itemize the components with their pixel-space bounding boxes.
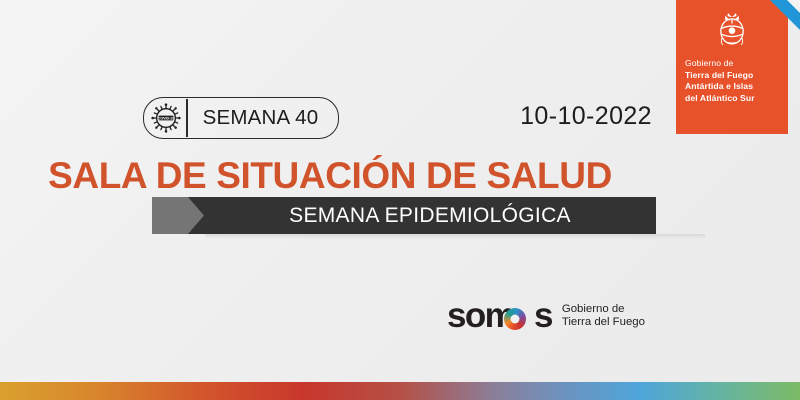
svg-text:COVID-19: COVID-19: [158, 116, 174, 120]
somos-logo: somos Gobierno de Tierra del Fuego: [447, 297, 645, 335]
gov-line-3: Antártida e Islas: [685, 81, 783, 93]
week-label: SEMANA 40: [188, 106, 339, 130]
covid19-virus-icon: COVID-19: [146, 99, 186, 137]
gov-line-1: Gobierno de: [685, 58, 783, 70]
somos-colored-ring-icon: [504, 308, 526, 330]
blue-corner-fold-icon: [770, 0, 800, 30]
somos-tagline: Gobierno de Tierra del Fuego: [562, 303, 645, 330]
somos-tagline-line-1: Gobierno de: [562, 303, 645, 316]
subtitle-bar: SEMANA EPIDEMIOLÓGICA: [152, 197, 656, 234]
somos-tagline-line-2: Tierra del Fuego: [562, 316, 645, 329]
subtitle-label: SEMANA EPIDEMIOLÓGICA: [204, 197, 656, 234]
coat-of-arms-icon: [711, 9, 753, 51]
bottom-gradient-stripe: [0, 382, 800, 400]
report-date: 10-10-2022: [520, 102, 652, 131]
government-badge-text: Gobierno de Tierra del Fuego Antártida e…: [685, 58, 783, 104]
week-badge: COVID-19 SEMANA 40: [143, 97, 339, 139]
gov-line-2: Tierra del Fuego: [685, 70, 783, 82]
somos-wordmark-post: s: [534, 296, 552, 335]
white-fold-triangle: [785, 0, 800, 15]
page-title: SALA DE SITUACIÓN DE SALUD: [0, 155, 800, 197]
gov-line-4: del Atlántico Sur: [685, 93, 783, 105]
somos-wordmark: somos: [447, 297, 552, 335]
subtitle-bar-shadow: [205, 234, 705, 239]
slide-canvas: Gobierno de Tierra del Fuego Antártida e…: [0, 0, 800, 400]
